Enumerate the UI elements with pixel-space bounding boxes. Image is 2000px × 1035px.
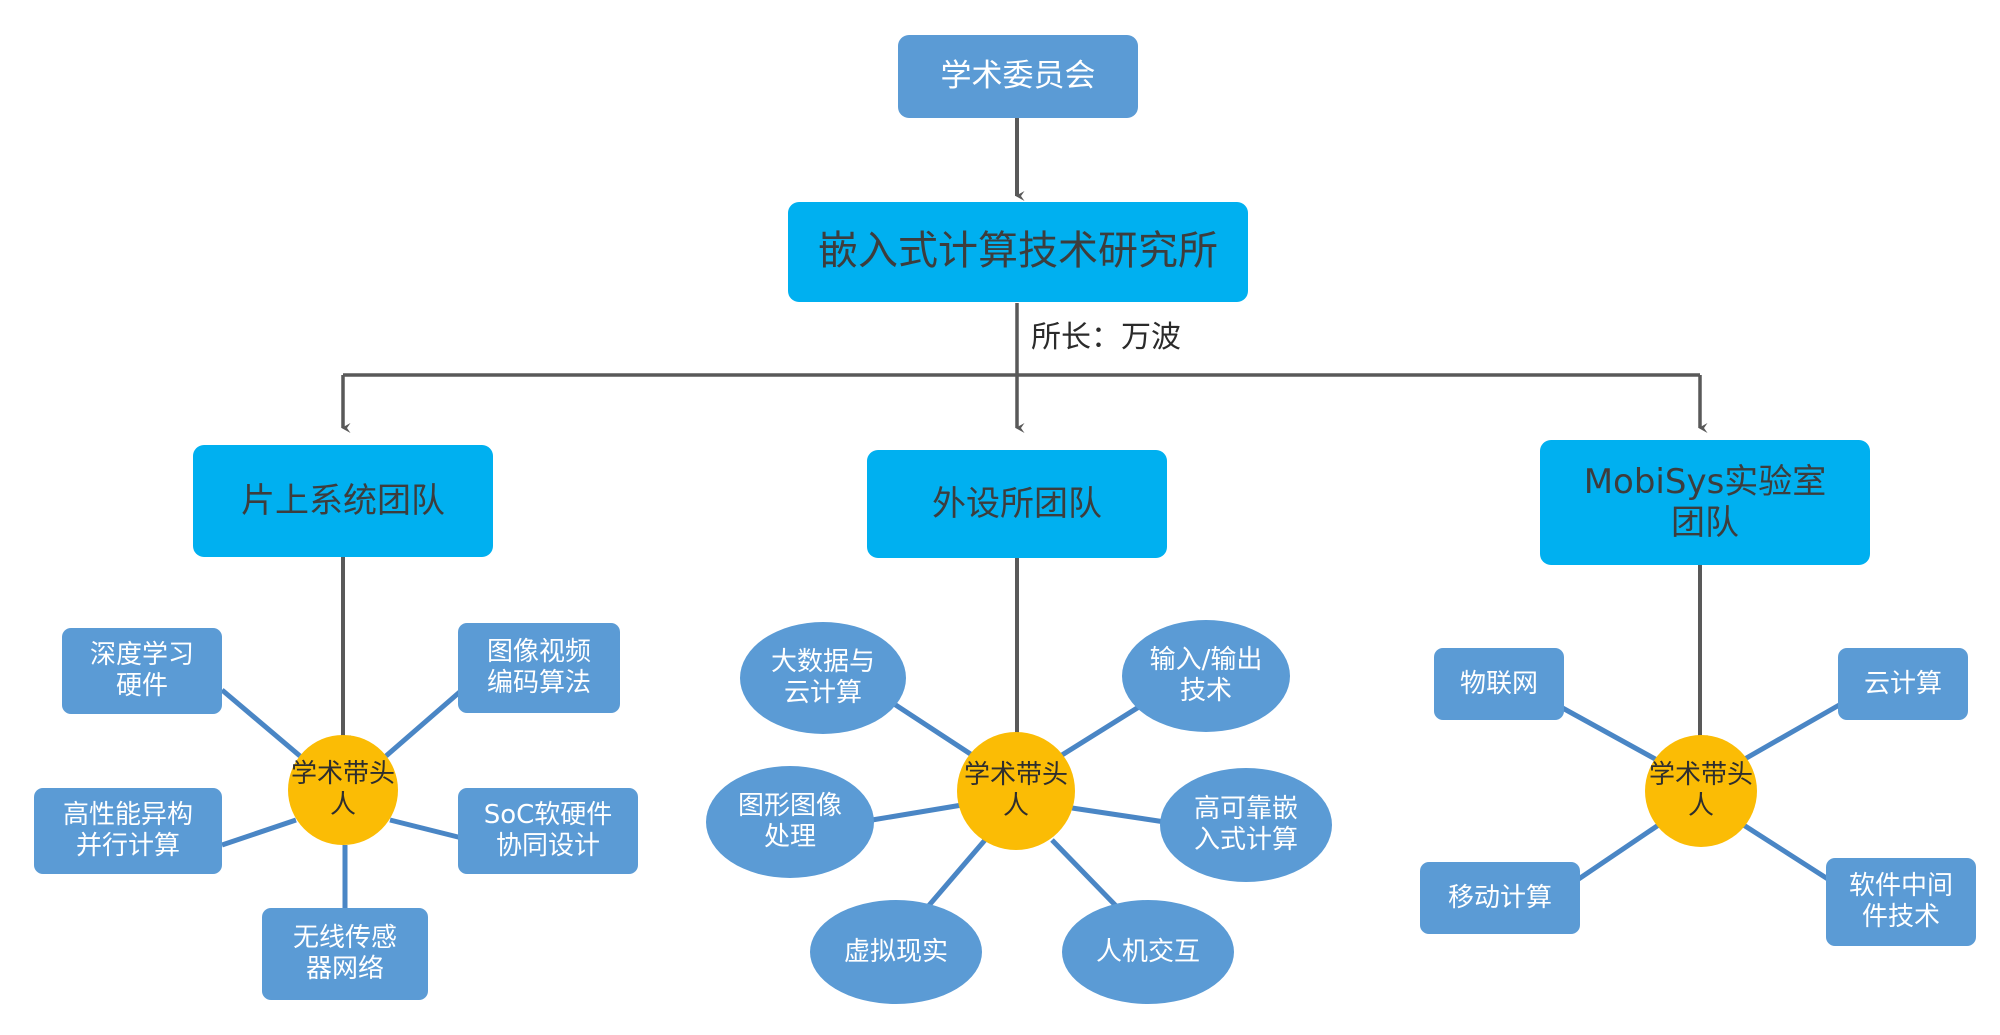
leaf-virtual-reality[interactable]: 虚拟现实 <box>810 900 982 1004</box>
org-chart-diagram: 学术委员会 嵌入式计算技术研究所 所长：万波 片上系统团队 外设所团队 Mobi… <box>0 0 2000 1035</box>
hub-academic-leader-peripheral[interactable]: 学术带头人 <box>957 732 1075 850</box>
leaf-software-middleware[interactable]: 软件中间 件技术 <box>1826 858 1976 946</box>
leaf-internet-of-things[interactable]: 物联网 <box>1434 648 1564 720</box>
node-team-mobisys[interactable]: MobiSys实验室 团队 <box>1540 440 1870 565</box>
leaf-deep-learning-hardware[interactable]: 深度学习 硬件 <box>62 628 222 714</box>
leaf-bigdata-cloud-computing[interactable]: 大数据与 云计算 <box>740 622 906 734</box>
node-team-peripheral[interactable]: 外设所团队 <box>867 450 1167 558</box>
leaf-hpc-heterogeneous-parallel[interactable]: 高性能异构 并行计算 <box>34 788 222 874</box>
leaf-image-video-coding[interactable]: 图像视频 编码算法 <box>458 623 620 713</box>
node-institute[interactable]: 嵌入式计算技术研究所 <box>788 202 1248 302</box>
hub-academic-leader-mobisys[interactable]: 学术带头人 <box>1645 735 1757 847</box>
leaf-high-reliability-embedded[interactable]: 高可靠嵌 入式计算 <box>1160 768 1332 882</box>
node-academic-committee[interactable]: 学术委员会 <box>898 35 1138 118</box>
hub-academic-leader-soc[interactable]: 学术带头人 <box>288 735 398 845</box>
leaf-io-technology[interactable]: 输入/输出 技术 <box>1122 620 1290 732</box>
leaf-wireless-sensor-network[interactable]: 无线传感 器网络 <box>262 908 428 1000</box>
leaf-soc-hw-sw-codesign[interactable]: SoC软硬件 协同设计 <box>458 788 638 874</box>
director-label: 所长：万波 <box>1031 312 1181 356</box>
leaf-human-computer-interaction[interactable]: 人机交互 <box>1062 900 1234 1004</box>
leaf-graphics-image-processing[interactable]: 图形图像 处理 <box>706 766 874 878</box>
leaf-cloud-computing[interactable]: 云计算 <box>1838 648 1968 720</box>
leaf-mobile-computing[interactable]: 移动计算 <box>1420 862 1580 934</box>
node-team-soc[interactable]: 片上系统团队 <box>193 445 493 557</box>
